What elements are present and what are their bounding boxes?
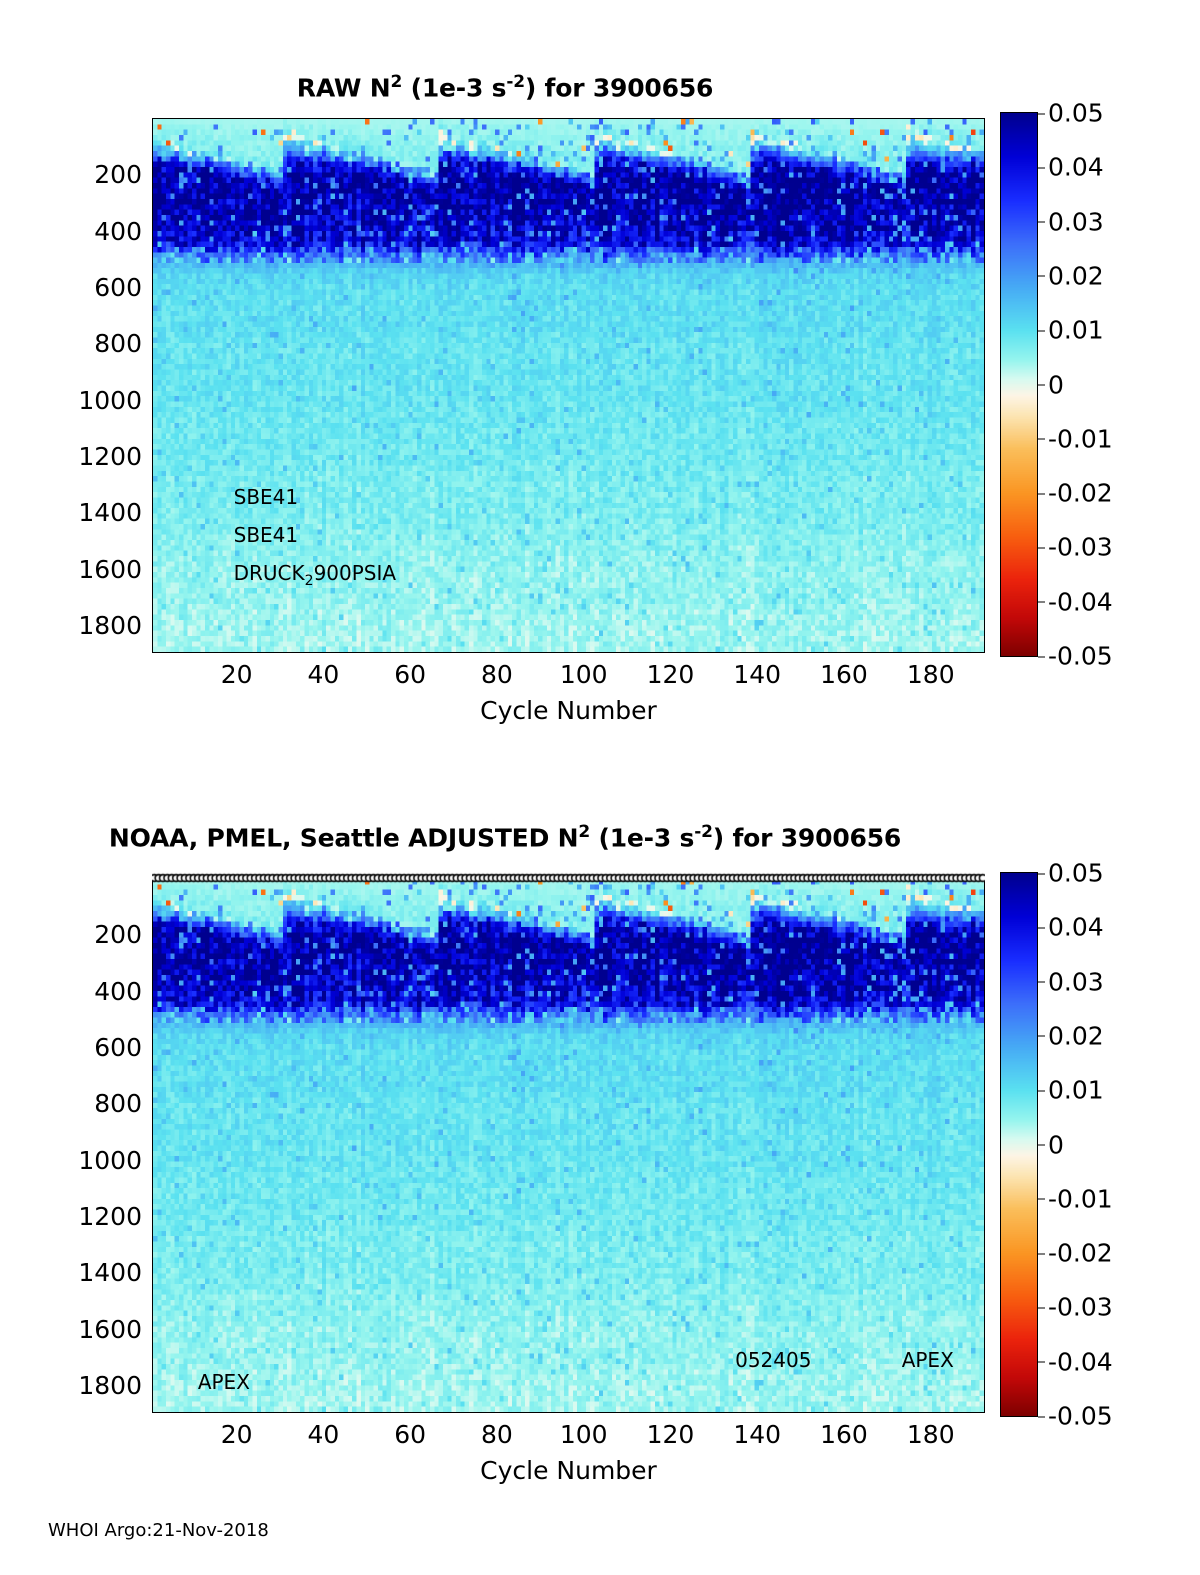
y-tick-1200: 1200 — [42, 444, 142, 469]
y-tick-1600: 1600 — [42, 1317, 142, 1342]
float-type-right: APEX — [902, 1348, 954, 1372]
colorbar-tick-6: -0.01 — [1048, 426, 1113, 451]
panel-raw-title: RAW N2 (1e-3 s-2) for 3900656 — [0, 72, 1010, 102]
colorbar-tick-4: 0.01 — [1048, 1078, 1104, 1103]
footer-credit: WHOI Argo:21-Nov-2018 — [48, 1520, 269, 1541]
y-tick-800: 800 — [42, 331, 142, 356]
colorbar-tick-9: -0.04 — [1048, 1349, 1113, 1374]
x-tick-20: 20 — [221, 660, 253, 689]
panel-raw: RAW N2 (1e-3 s-2) for 3900656 Pressure (… — [0, 0, 1200, 760]
colorbar-tick-0: 0.05 — [1048, 861, 1104, 886]
x-tick-20: 20 — [221, 1420, 253, 1449]
float-type-left: APEX — [198, 1370, 250, 1394]
y-tick-1600: 1600 — [42, 557, 142, 582]
colorbar-tick-4: 0.01 — [1048, 318, 1104, 343]
cycle-marker-row — [152, 870, 985, 885]
colorbar-tick-1: 0.04 — [1048, 915, 1104, 940]
y-tick-600: 600 — [42, 275, 142, 300]
y-tick-200: 200 — [42, 922, 142, 947]
pressure-sensor: DRUCK2900PSIA — [234, 561, 396, 589]
colorbar-tick-8: -0.03 — [1048, 1295, 1113, 1320]
x-tick-120: 120 — [647, 660, 695, 689]
colorbar-tick-2: 0.03 — [1048, 209, 1104, 234]
x-tick-80: 80 — [481, 1420, 513, 1449]
x-tick-40: 40 — [307, 660, 339, 689]
colorbar-tick-3: 0.02 — [1048, 263, 1104, 288]
colorbar-tick-5: 0 — [1048, 372, 1064, 397]
colorbar-tick-6: -0.01 — [1048, 1186, 1113, 1211]
x-tick-160: 160 — [820, 660, 868, 689]
x-tick-140: 140 — [733, 660, 781, 689]
x-tick-160: 160 — [820, 1420, 868, 1449]
y-tick-1400: 1400 — [42, 1260, 142, 1285]
x-axis-ticks-adjusted: 20406080100120140160180 — [152, 1420, 985, 1456]
colorbar-tick-10: -0.05 — [1048, 644, 1113, 669]
y-tick-400: 400 — [42, 219, 142, 244]
heatmap-adjusted[interactable] — [152, 878, 985, 1413]
x-tick-80: 80 — [481, 660, 513, 689]
y-tick-1000: 1000 — [42, 388, 142, 413]
x-tick-100: 100 — [560, 660, 608, 689]
y-tick-200: 200 — [42, 162, 142, 187]
colorbar-tick-2: 0.03 — [1048, 969, 1104, 994]
x-tick-100: 100 — [560, 1420, 608, 1449]
y-axis-ticks-raw: 20040060080010001200140016001800 — [38, 118, 142, 653]
wmo-serial: 052405 — [735, 1348, 811, 1372]
colorbar-tick-3: 0.02 — [1048, 1023, 1104, 1048]
colorbar-tick-7: -0.02 — [1048, 1241, 1113, 1266]
y-tick-1800: 1800 — [42, 1373, 142, 1398]
x-tick-60: 60 — [394, 660, 426, 689]
colorbar-ticks-raw: 0.050.040.030.020.010-0.01-0.02-0.03-0.0… — [1040, 112, 1190, 657]
y-tick-600: 600 — [42, 1035, 142, 1060]
y-axis-ticks-adjusted: 20040060080010001200140016001800 — [38, 878, 142, 1413]
sensor-model-2: SBE41 — [234, 523, 299, 547]
y-tick-1200: 1200 — [42, 1204, 142, 1229]
colorbar-tick-9: -0.04 — [1048, 589, 1113, 614]
x-tick-40: 40 — [307, 1420, 339, 1449]
x-tick-180: 180 — [907, 1420, 955, 1449]
y-tick-400: 400 — [42, 979, 142, 1004]
x-tick-60: 60 — [394, 1420, 426, 1449]
colorbar-tick-10: -0.05 — [1048, 1404, 1113, 1429]
panel-adjusted: NOAA, PMEL, Seattle ADJUSTED N2 (1e-3 s-… — [0, 760, 1200, 1520]
panel-adjusted-title: NOAA, PMEL, Seattle ADJUSTED N2 (1e-3 s-… — [0, 822, 1010, 852]
colorbar-ticks-adjusted: 0.050.040.030.020.010-0.01-0.02-0.03-0.0… — [1040, 872, 1190, 1417]
x-tick-180: 180 — [907, 660, 955, 689]
x-axis-label-adjusted: Cycle Number — [152, 1456, 985, 1485]
y-tick-1000: 1000 — [42, 1148, 142, 1173]
y-tick-800: 800 — [42, 1091, 142, 1116]
colorbar-tick-0: 0.05 — [1048, 101, 1104, 126]
x-axis-label-raw: Cycle Number — [152, 696, 985, 725]
y-tick-1400: 1400 — [42, 500, 142, 525]
colorbar-raw — [1000, 112, 1038, 657]
sensor-model-1: SBE41 — [234, 485, 299, 509]
y-tick-1800: 1800 — [42, 613, 142, 638]
x-axis-ticks-raw: 20406080100120140160180 — [152, 660, 985, 696]
colorbar-tick-8: -0.03 — [1048, 535, 1113, 560]
x-tick-140: 140 — [733, 1420, 781, 1449]
colorbar-tick-7: -0.02 — [1048, 481, 1113, 506]
colorbar-tick-5: 0 — [1048, 1132, 1064, 1157]
colorbar-adjusted — [1000, 872, 1038, 1417]
x-tick-120: 120 — [647, 1420, 695, 1449]
colorbar-tick-1: 0.04 — [1048, 155, 1104, 180]
